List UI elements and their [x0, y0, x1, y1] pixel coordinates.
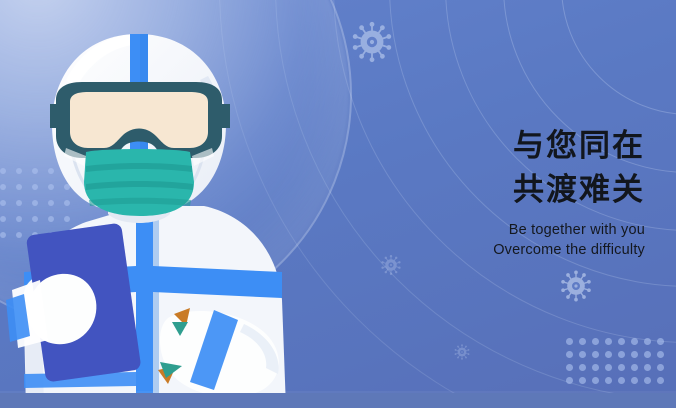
suit-center-stripe [136, 206, 153, 408]
pattern-dot [657, 364, 664, 371]
pattern-dot [618, 364, 625, 371]
pattern-dot [644, 338, 651, 345]
pattern-dot [631, 338, 638, 345]
subhead-line-1: Be together with you [345, 220, 645, 240]
goggles-strap-right [222, 104, 230, 128]
pattern-dot [566, 351, 573, 358]
pattern-dot [592, 338, 599, 345]
pattern-dot [618, 338, 625, 345]
pattern-dot [618, 351, 625, 358]
subhead-line-2: Overcome the difficulty [345, 240, 645, 260]
pattern-dot [579, 364, 586, 371]
pattern-dot [566, 364, 573, 371]
suit-center-stripe-shade [153, 206, 159, 408]
headline-line-2: 共渡难关 [345, 168, 645, 212]
pattern-dot [657, 351, 664, 358]
pattern-dot [592, 364, 599, 371]
pattern-dot [592, 377, 599, 384]
bottom-bar [0, 393, 676, 408]
pattern-dot [579, 351, 586, 358]
medical-worker-illustration [0, 0, 320, 408]
pattern-dot [657, 338, 664, 345]
pattern-dot [566, 377, 573, 384]
pattern-dot [566, 338, 573, 345]
headline-line-1: 与您同在 [345, 124, 645, 168]
virus-icon [452, 342, 472, 362]
pattern-dot [631, 364, 638, 371]
pattern-dot [579, 338, 586, 345]
pattern-dot [605, 338, 612, 345]
pattern-dot [605, 364, 612, 371]
pattern-dot [579, 377, 586, 384]
poster-copy-block: 与您同在 共渡难关 Be together with you Overcome … [345, 124, 645, 261]
pattern-dot [605, 377, 612, 384]
pattern-dot [644, 364, 651, 371]
subhead-wrap: Be together with you Overcome the diffic… [345, 220, 645, 261]
goggles-strap-left [50, 104, 56, 128]
pattern-dot [631, 351, 638, 358]
pattern-dot [657, 377, 664, 384]
pattern-dot [592, 351, 599, 358]
virus-icon [346, 16, 398, 68]
pattern-dot [631, 377, 638, 384]
pattern-dot [605, 351, 612, 358]
pattern-dot [618, 377, 625, 384]
pattern-dot [644, 377, 651, 384]
poster-canvas: 与您同在 共渡难关 Be together with you Overcome … [0, 0, 676, 408]
pattern-dot [644, 351, 651, 358]
virus-icon [556, 266, 596, 306]
